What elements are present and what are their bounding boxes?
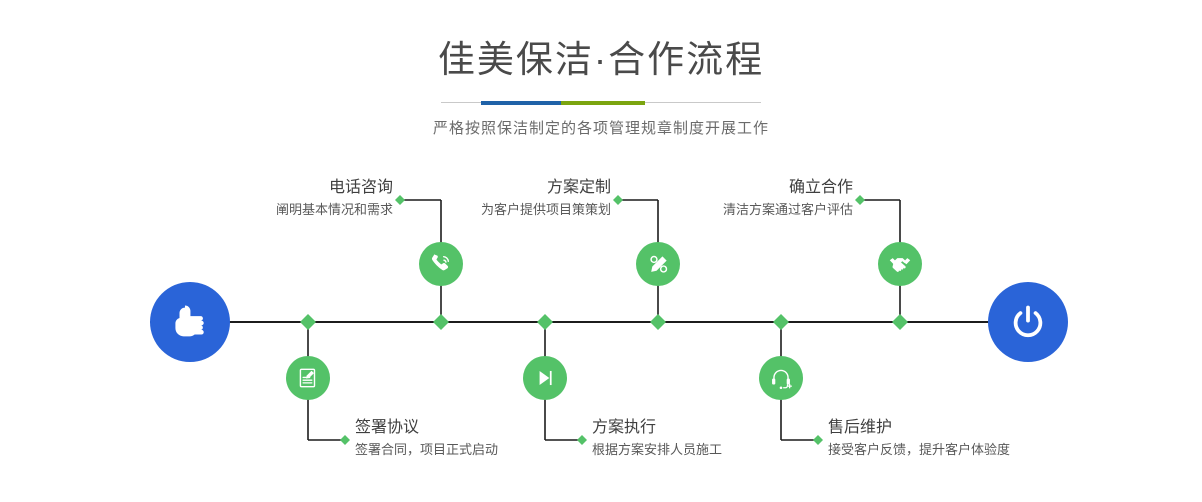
label-diamond-5 bbox=[855, 195, 865, 205]
step-title-5: 确立合作 bbox=[723, 178, 853, 198]
step-label-1: 电话咨询 阐明基本情况和需求 bbox=[276, 178, 393, 220]
step-node-3[interactable] bbox=[636, 242, 680, 286]
timeline: 电话咨询 阐明基本情况和需求 方案定制 为客户提供项目策策划 确立合作 清洁方案… bbox=[0, 150, 1202, 502]
title-divider bbox=[441, 98, 761, 108]
pointing-hand-icon bbox=[167, 299, 213, 345]
diamond-marker bbox=[650, 314, 666, 330]
pencil-design-icon bbox=[645, 251, 672, 278]
step-desc-4: 根据方案安排人员施工 bbox=[592, 440, 722, 460]
page-subtitle: 严格按照保洁制定的各项管理规章制度开展工作 bbox=[0, 117, 1202, 138]
label-diamond-3 bbox=[613, 195, 623, 205]
diamond-marker bbox=[300, 314, 316, 330]
step-title-1: 电话咨询 bbox=[276, 178, 393, 198]
step-title-3: 方案定制 bbox=[481, 178, 611, 198]
diamond-marker bbox=[892, 314, 908, 330]
step-node-2[interactable] bbox=[286, 356, 330, 400]
header: 佳美保洁·合作流程 严格按照保洁制定的各项管理规章制度开展工作 bbox=[0, 0, 1202, 138]
power-icon bbox=[1006, 300, 1050, 344]
step-label-4: 方案执行 根据方案安排人员施工 bbox=[592, 418, 722, 460]
step-title-2: 签署协议 bbox=[355, 418, 498, 438]
step-title-4: 方案执行 bbox=[592, 418, 722, 438]
step-label-2: 签署协议 签署合同，项目正式启动 bbox=[355, 418, 498, 460]
step-node-4[interactable] bbox=[523, 356, 567, 400]
step-node-1[interactable] bbox=[419, 242, 463, 286]
cooperation-flow-infographic: 佳美保洁·合作流程 严格按照保洁制定的各项管理规章制度开展工作 bbox=[0, 0, 1202, 502]
diamond-marker bbox=[433, 314, 449, 330]
page-title: 佳美保洁·合作流程 bbox=[0, 38, 1202, 82]
divider-accent-blue bbox=[481, 101, 561, 105]
label-diamond-6 bbox=[813, 435, 823, 445]
step-label-3: 方案定制 为客户提供项目策策划 bbox=[481, 178, 611, 220]
step-label-5: 确立合作 清洁方案通过客户评估 bbox=[723, 178, 853, 220]
step-desc-3: 为客户提供项目策策划 bbox=[481, 200, 611, 220]
step-node-5[interactable] bbox=[878, 242, 922, 286]
label-diamond-4 bbox=[577, 435, 587, 445]
label-diamond-1 bbox=[395, 195, 405, 205]
step-node-6[interactable] bbox=[759, 356, 803, 400]
divider-accent-green bbox=[561, 101, 645, 105]
play-execute-icon bbox=[532, 365, 558, 391]
step-label-6: 售后维护 接受客户反馈，提升客户体验度 bbox=[828, 418, 1010, 460]
document-edit-icon bbox=[295, 365, 321, 391]
step-desc-2: 签署合同，项目正式启动 bbox=[355, 440, 498, 460]
step-desc-5: 清洁方案通过客户评估 bbox=[723, 200, 853, 220]
diamond-marker bbox=[537, 314, 553, 330]
step-desc-6: 接受客户反馈，提升客户体验度 bbox=[828, 440, 1010, 460]
headset-support-icon bbox=[768, 365, 794, 391]
phone-ringing-icon bbox=[428, 251, 454, 277]
diamond-marker bbox=[773, 314, 789, 330]
handshake-icon bbox=[886, 250, 914, 278]
flow-start-node[interactable] bbox=[150, 282, 230, 362]
step-title-6: 售后维护 bbox=[828, 418, 1010, 438]
flow-end-node[interactable] bbox=[988, 282, 1068, 362]
step-desc-1: 阐明基本情况和需求 bbox=[276, 200, 393, 220]
label-diamond-2 bbox=[340, 435, 350, 445]
